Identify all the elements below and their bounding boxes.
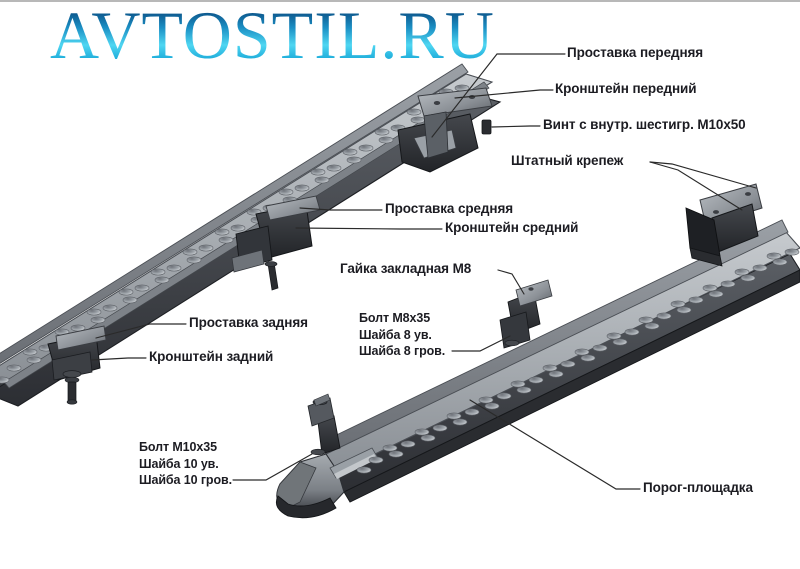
hardware-m8-bolt: Болт M8x35 [359,310,445,327]
label-running-board: Порог-площадка [643,481,753,495]
hardware-m10-lock: Шайба 10 гров. [139,472,232,489]
lower-front-fixing [308,394,340,455]
label-stock-fastener: Штатный крепеж [511,154,623,168]
label-mid-bracket: Кронштейн средний [445,221,578,235]
hardware-group-m10: Болт M10x35 Шайба 10 ув. Шайба 10 гров. [139,439,232,489]
hardware-group-m8: Болт M8x35 Шайба 8 ув. Шайба 8 гров. [359,310,445,360]
label-rear-bracket: Кронштейн задний [149,350,273,364]
hardware-m8-washer: Шайба 8 ув. [359,327,445,344]
label-hex-screw: Винт с внутр. шестигр. M10x50 [543,118,746,132]
diagram-page: AVTOSTIL.RU Проставка передняя Кронштейн… [0,0,800,569]
label-front-bracket: Кронштейн передний [555,82,696,96]
hardware-m8-lock: Шайба 8 гров. [359,343,445,360]
hardware-m10-washer: Шайба 10 ув. [139,456,232,473]
label-captive-nut: Гайка закладная M8 [340,262,471,276]
label-front-spacer: Проставка передняя [567,46,703,60]
label-mid-spacer: Проставка средняя [385,202,513,216]
hardware-m10-bolt: Болт M10x35 [139,439,232,456]
label-rear-spacer: Проставка задняя [189,316,308,330]
